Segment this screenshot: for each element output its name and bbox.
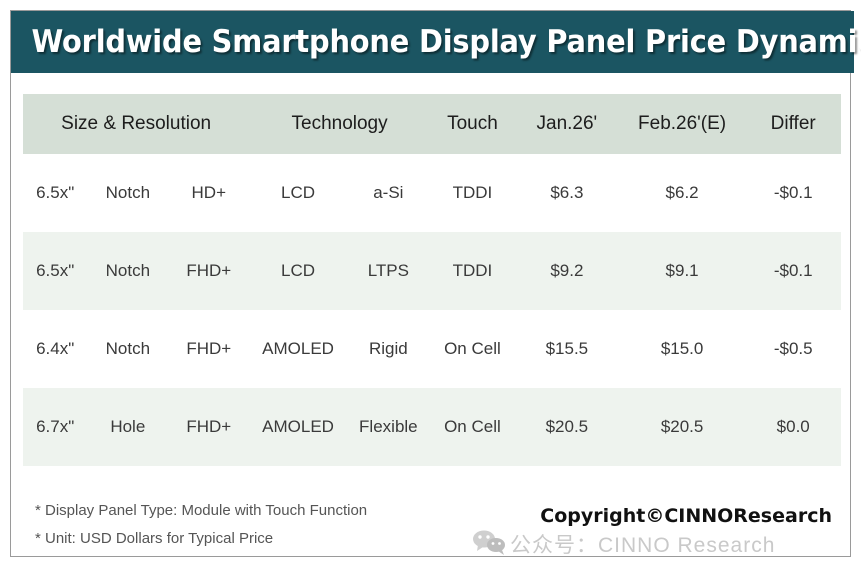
cell-technology: AMOLED xyxy=(249,388,347,466)
title-bar: Worldwide Smartphone Display Panel Price… xyxy=(11,11,854,73)
wechat-icon xyxy=(472,529,508,555)
footnote-panel-type: * Display Panel Type: Module with Touch … xyxy=(35,497,367,525)
cell-differ: $0.0 xyxy=(745,388,841,466)
cell-differ: -$0.5 xyxy=(745,310,841,388)
cell-resolution: HD+ xyxy=(168,154,249,232)
cell-jan-price: $20.5 xyxy=(515,388,619,466)
cell-touch: TDDI xyxy=(430,154,515,232)
copyright-text: Copyright©CINNOResearch xyxy=(540,505,832,527)
cell-backplane: Rigid xyxy=(347,310,430,388)
cell-size: 6.7x" xyxy=(23,388,87,466)
cell-technology: AMOLED xyxy=(249,310,347,388)
cell-size: 6.4x" xyxy=(23,310,87,388)
cell-jan-price: $15.5 xyxy=(515,310,619,388)
cell-technology: LCD xyxy=(249,154,347,232)
column-header-differ: Differ xyxy=(745,94,841,154)
cell-resolution: FHD+ xyxy=(168,310,249,388)
price-table: Size & Resolution Technology Touch Jan.2… xyxy=(23,94,841,466)
cell-backplane: LTPS xyxy=(347,232,430,310)
cell-size: 6.5x" xyxy=(23,154,87,232)
price-table-wrapper: Size & Resolution Technology Touch Jan.2… xyxy=(23,94,841,466)
cell-notch: Notch xyxy=(87,232,168,310)
page-title: Worldwide Smartphone Display Panel Price… xyxy=(11,24,861,60)
cell-feb-price: $15.0 xyxy=(619,310,746,388)
cell-feb-price: $9.1 xyxy=(619,232,746,310)
footnote-unit: * Unit: USD Dollars for Typical Price xyxy=(35,525,367,553)
table-row: 6.4x" Notch FHD+ AMOLED Rigid On Cell $1… xyxy=(23,310,841,388)
cell-differ: -$0.1 xyxy=(745,232,841,310)
cell-differ: -$0.1 xyxy=(745,154,841,232)
column-header-touch: Touch xyxy=(430,94,515,154)
cell-technology: LCD xyxy=(249,232,347,310)
cell-resolution: FHD+ xyxy=(168,232,249,310)
watermark-text: 公众号：CINNO Research xyxy=(510,529,775,559)
cell-touch: On Cell xyxy=(430,388,515,466)
column-header-jan: Jan.26' xyxy=(515,94,619,154)
cell-touch: TDDI xyxy=(430,232,515,310)
cell-backplane: Flexible xyxy=(347,388,430,466)
table-row: 6.7x" Hole FHD+ AMOLED Flexible On Cell … xyxy=(23,388,841,466)
column-header-technology: Technology xyxy=(249,94,430,154)
cell-notch: Notch xyxy=(87,310,168,388)
cell-jan-price: $6.3 xyxy=(515,154,619,232)
cell-feb-price: $6.2 xyxy=(619,154,746,232)
footnotes: * Display Panel Type: Module with Touch … xyxy=(35,497,367,553)
column-header-size-resolution: Size & Resolution xyxy=(23,94,249,154)
cell-resolution: FHD+ xyxy=(168,388,249,466)
cell-backplane: a-Si xyxy=(347,154,430,232)
cell-touch: On Cell xyxy=(430,310,515,388)
table-row: 6.5x" Notch FHD+ LCD LTPS TDDI $9.2 $9.1… xyxy=(23,232,841,310)
table-row: 6.5x" Notch HD+ LCD a-Si TDDI $6.3 $6.2 … xyxy=(23,154,841,232)
column-header-feb: Feb.26'(E) xyxy=(619,94,746,154)
table-header-row: Size & Resolution Technology Touch Jan.2… xyxy=(23,94,841,154)
cell-notch: Hole xyxy=(87,388,168,466)
cell-feb-price: $20.5 xyxy=(619,388,746,466)
cell-notch: Notch xyxy=(87,154,168,232)
cell-size: 6.5x" xyxy=(23,232,87,310)
price-table-card: Worldwide Smartphone Display Panel Price… xyxy=(10,10,851,557)
cell-jan-price: $9.2 xyxy=(515,232,619,310)
copyright-zone: Copyright©CINNOResearch 公众号：CINNO Resear… xyxy=(472,505,832,567)
